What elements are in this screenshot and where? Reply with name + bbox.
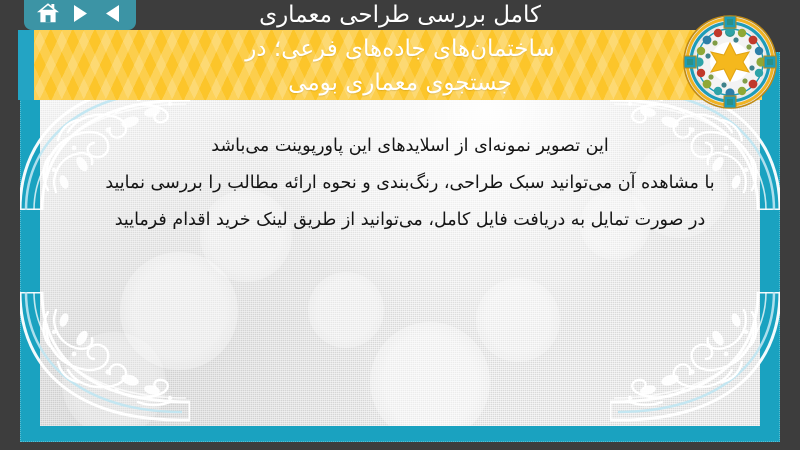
bokeh-circle — [308, 272, 384, 348]
bokeh-circle — [632, 142, 728, 238]
back-button[interactable] — [99, 1, 125, 25]
back-triangle-icon — [104, 4, 121, 23]
slide-canvas: کامل بررسی طراحی معماری ساختمان‌های جاده… — [0, 0, 800, 450]
home-button[interactable] — [35, 1, 61, 25]
persian-mandala-medallion — [682, 14, 778, 110]
title-line-1: کامل بررسی طراحی معماری — [140, 0, 660, 32]
content-panel — [40, 82, 760, 426]
forward-button[interactable] — [67, 1, 93, 25]
bokeh-circle — [200, 190, 292, 282]
home-icon — [36, 2, 60, 24]
bokeh-circle — [476, 278, 560, 362]
banner-left-tab — [18, 30, 34, 100]
bokeh-circle — [62, 332, 166, 426]
banner-chevron-pattern — [18, 30, 762, 100]
title-banner — [18, 30, 762, 100]
navigation-bar — [24, 0, 136, 30]
forward-triangle-icon — [72, 4, 89, 23]
